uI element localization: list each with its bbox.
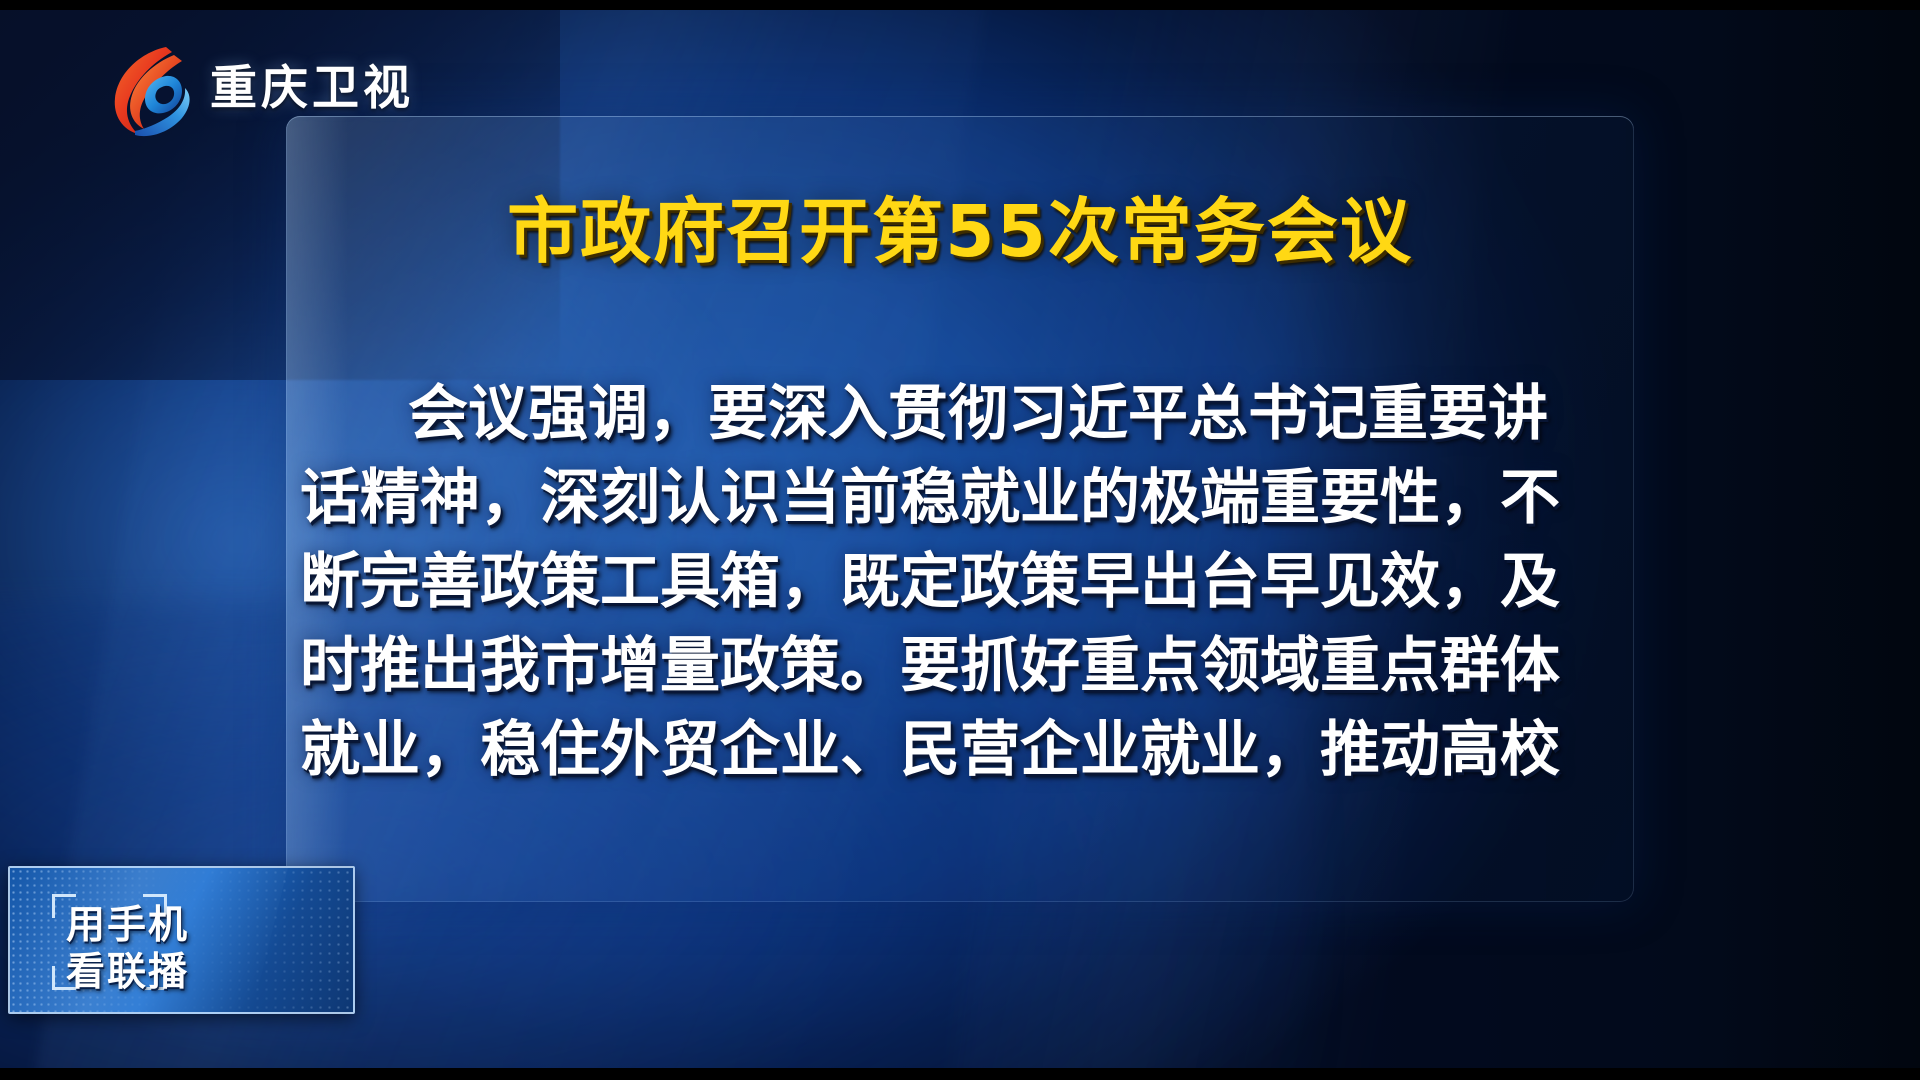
letterbox-top (0, 0, 1920, 10)
promo-line-2: 看联播 (66, 949, 189, 996)
page-title: 市政府召开第55次常务会议 (286, 196, 1634, 267)
letterbox-bottom (0, 1068, 1920, 1080)
promo-line-1: 用手机 (66, 902, 189, 949)
chongqing-tv-swoosh-icon (104, 38, 196, 138)
body-line: 会议强调，要深入贯彻习近平总书记重要讲 (300, 372, 1630, 456)
body-line: 话精神，深刻认识当前稳就业的极端重要性，不 (300, 456, 1630, 540)
channel-logo-block: 重庆卫视 (104, 38, 414, 138)
mobile-promo-box: 用手机 看联播 (8, 866, 355, 1014)
promo-text: 用手机 看联播 (66, 902, 189, 996)
body-line: 时推出我市增量政策。要抓好重点领域重点群体 (300, 624, 1630, 708)
channel-name: 重庆卫视 (210, 65, 414, 112)
broadcast-screen: 重庆卫视 市政府召开第55次常务会议 会议强调，要深入贯彻习近平总书记重要讲 话… (0, 0, 1920, 1080)
news-body-text: 会议强调，要深入贯彻习近平总书记重要讲 话精神，深刻认识当前稳就业的极端重要性，… (300, 372, 1630, 792)
body-line: 就业，稳住外贸企业、民营企业就业，推动高校 (300, 708, 1630, 792)
body-line: 断完善政策工具箱，既定政策早出台早见效，及 (300, 540, 1630, 624)
